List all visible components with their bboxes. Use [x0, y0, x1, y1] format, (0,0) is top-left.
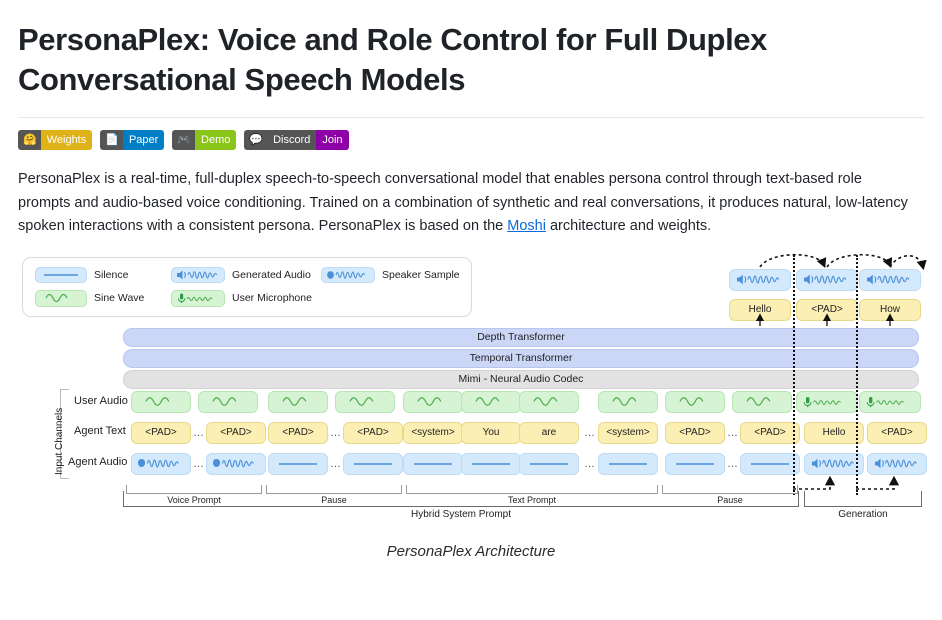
agent-text-cell-8: <PAD> [665, 422, 725, 444]
agent-text-cell-2: <PAD> [268, 422, 328, 444]
figure-caption: PersonaPlex Architecture [18, 543, 924, 560]
legend-label-user-microphone: User Microphone [232, 292, 312, 304]
generation-step-divider-0 [793, 255, 795, 495]
generation-output-text-1: <PAD> [796, 299, 858, 321]
sine-icon [35, 290, 87, 307]
agent-audio-cell-2 [268, 453, 328, 475]
legend-item-sine-wave: Sine Wave [35, 290, 144, 307]
user-audio-cell-2 [268, 391, 328, 413]
legend-item-user-microphone: User Microphone [171, 290, 312, 307]
agent-text-cell-0: <PAD> [131, 422, 191, 444]
agent-text-cell-3: <PAD> [343, 422, 403, 444]
user-audio-cell-9 [732, 391, 792, 413]
discord-icon: 💬 [244, 130, 267, 150]
page-root: PersonaPlex: Voice and Role Control for … [0, 0, 942, 560]
legend-label-generated-audio: Generated Audio [232, 269, 311, 281]
mic-wave-icon [171, 290, 225, 307]
group-label-generation: Generation [804, 509, 922, 520]
agent-audio-cell-4 [403, 453, 463, 475]
legend-label-speaker-sample: Speaker Sample [382, 269, 460, 281]
generation-output-text-2: How [859, 299, 921, 321]
badge-discord[interactable]: 💬 Discord Join [244, 130, 348, 150]
user-audio-cell-3 [335, 391, 395, 413]
description-paragraph: PersonaPlex is a real-time, full-duplex … [18, 168, 918, 238]
group-label-system-prompt: Hybrid System Prompt [123, 509, 799, 520]
generation-input-audio-1 [867, 453, 927, 475]
agent-text-ellipsis-2: … [584, 427, 595, 439]
generation-output-audio-0 [729, 269, 791, 291]
generation-input-audio-0 [804, 453, 864, 475]
row-label-user-audio: User Audio [74, 395, 120, 407]
badge-discord-join: Join [316, 130, 348, 150]
description-text-2: architecture and weights. [546, 218, 711, 234]
user-audio-cell-1 [198, 391, 258, 413]
legend-item-generated-audio: Generated Audio [171, 267, 311, 283]
agent-audio-cell-1 [206, 453, 266, 475]
user-audio-cell-7 [598, 391, 658, 413]
legend-item-speaker-sample: Speaker Sample [321, 267, 460, 283]
agent-audio-cell-9 [740, 453, 800, 475]
generation-output-audio-2 [859, 269, 921, 291]
agent-text-cell-7: <system> [598, 422, 658, 444]
depth-transformer-bar: Depth Transformer [123, 328, 919, 347]
agent-text-cell-6: are [519, 422, 579, 444]
generation-input-text-1: <PAD> [867, 422, 927, 444]
page-title: PersonaPlex: Voice and Role Control for … [18, 20, 908, 99]
badge-weights[interactable]: 🤗 Weights [18, 130, 92, 150]
agent-text-cell-5: You [461, 422, 521, 444]
title-divider [18, 117, 924, 118]
user-audio-cell-0 [131, 391, 191, 413]
agent-audio-cell-6 [519, 453, 579, 475]
user-audio-cell-5 [461, 391, 521, 413]
huggingface-icon: 🤗 [18, 130, 41, 150]
agent-text-ellipsis-3: … [727, 427, 738, 439]
agent-text-ellipsis-0: … [193, 427, 204, 439]
badge-row: 🤗 Weights 📄 Paper 🎮 Demo 💬 Discord Join [18, 130, 926, 150]
description-text-1: PersonaPlex is a real-time, full-duplex … [18, 171, 908, 234]
silence-icon [35, 267, 87, 283]
architecture-figure: Silence Generated Audio [18, 253, 924, 535]
agent-text-cell-1: <PAD> [206, 422, 266, 444]
agent-audio-ellipsis-3: … [727, 458, 738, 470]
badge-discord-label: Discord [267, 130, 316, 150]
person-wave-icon [321, 267, 375, 283]
temporal-transformer-bar: Temporal Transformer [123, 349, 919, 368]
user-audio-cell-11 [859, 391, 921, 413]
group-bracket-generation [804, 491, 922, 507]
user-audio-cell-10 [796, 391, 858, 413]
user-audio-cell-8 [665, 391, 725, 413]
badge-paper[interactable]: 📄 Paper [100, 130, 164, 150]
row-label-agent-text: Agent Text [74, 425, 120, 437]
agent-audio-cell-3 [343, 453, 403, 475]
badge-demo[interactable]: 🎮 Demo [172, 130, 236, 150]
legend-label-sine-wave: Sine Wave [94, 292, 144, 304]
agent-audio-cell-8 [665, 453, 725, 475]
generation-output-audio-1 [796, 269, 858, 291]
agent-audio-cell-5 [461, 453, 521, 475]
group-bracket-system-prompt [123, 491, 799, 507]
gamepad-icon: 🎮 [172, 130, 195, 150]
badge-paper-label: Paper [123, 130, 164, 150]
mimi-codec-bar: Mimi - Neural Audio Codec [123, 370, 919, 389]
agent-audio-ellipsis-0: … [193, 458, 204, 470]
agent-text-cell-4: <system> [403, 422, 463, 444]
badge-weights-label: Weights [41, 130, 93, 150]
figure-legend: Silence Generated Audio [22, 257, 472, 317]
generation-input-text-0: Hello [804, 422, 864, 444]
agent-audio-ellipsis-1: … [330, 458, 341, 470]
legend-label-silence: Silence [94, 269, 128, 281]
agent-audio-ellipsis-2: … [584, 458, 595, 470]
agent-text-cell-9: <PAD> [740, 422, 800, 444]
user-audio-cell-6 [519, 391, 579, 413]
generation-step-divider-1 [856, 255, 858, 495]
row-label-agent-audio: Agent Audio [68, 456, 120, 468]
agent-audio-cell-7 [598, 453, 658, 475]
moshi-link[interactable]: Moshi [507, 218, 546, 234]
user-audio-cell-4 [403, 391, 463, 413]
badge-demo-label: Demo [195, 130, 236, 150]
legend-item-silence: Silence [35, 267, 128, 283]
agent-text-ellipsis-1: … [330, 427, 341, 439]
input-channels-label: Input Channels [54, 408, 65, 475]
agent-audio-cell-0 [131, 453, 191, 475]
document-icon: 📄 [100, 130, 123, 150]
speaker-wave-icon [171, 267, 225, 283]
generation-output-text-0: Hello [729, 299, 791, 321]
